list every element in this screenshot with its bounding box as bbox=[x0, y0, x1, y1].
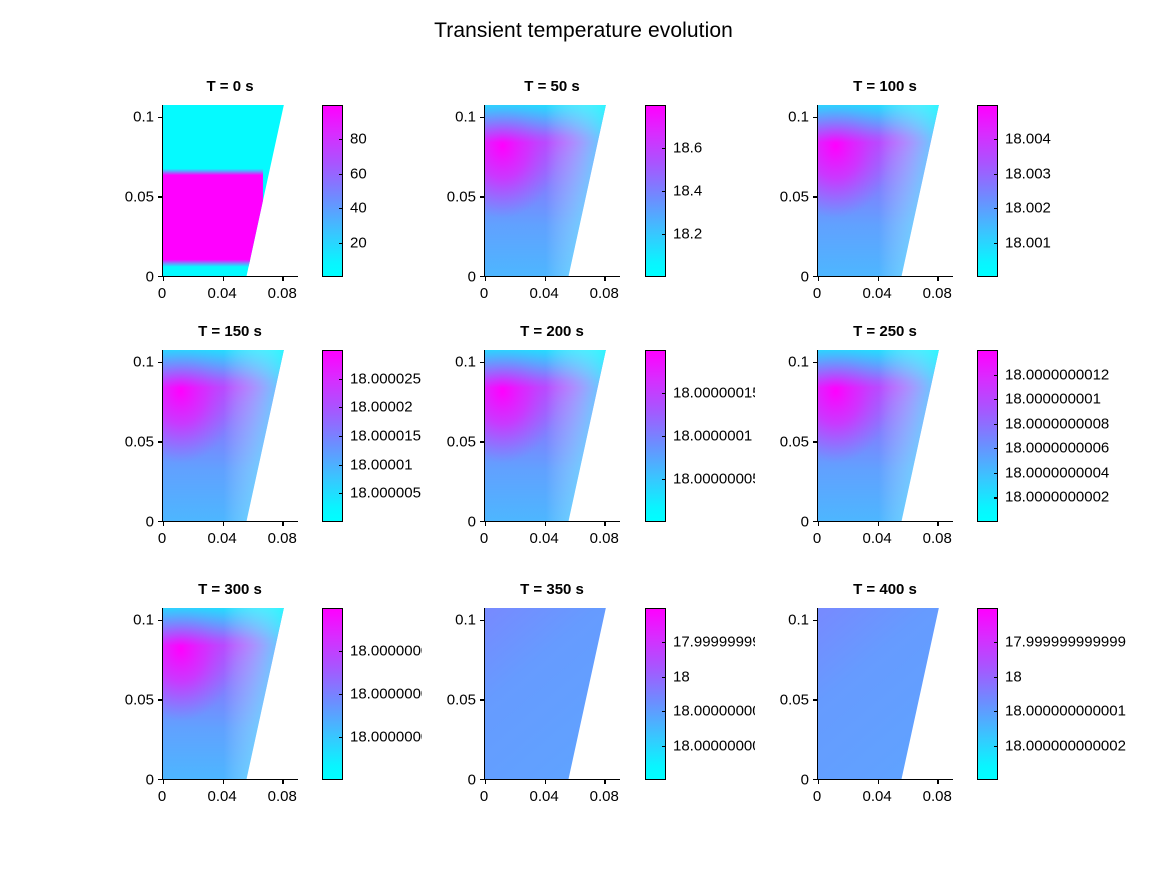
y-tick-label: 0 bbox=[751, 772, 809, 789]
x-tick bbox=[937, 779, 938, 784]
x-tick-label: 0.04 bbox=[863, 788, 892, 805]
colorbar-tick bbox=[994, 677, 998, 678]
colorbar-tick-label: 18 bbox=[1005, 668, 1022, 685]
x-tick-label: 0 bbox=[813, 788, 821, 805]
y-tick-label: 0.1 bbox=[751, 612, 809, 629]
x-tick-label: 0.08 bbox=[923, 788, 952, 805]
colorbar-400s bbox=[977, 608, 998, 780]
colorbar-tick bbox=[994, 746, 998, 747]
subplot-400s: T = 400 s00.040.0800.050.118.00000000000… bbox=[0, 0, 1167, 875]
y-tick bbox=[813, 779, 818, 780]
axes-400s bbox=[817, 608, 953, 780]
colorbar-tick bbox=[994, 711, 998, 712]
colorbar-tick bbox=[994, 642, 998, 643]
x-tick bbox=[878, 779, 879, 784]
colorbar-tick-label: 18.000000000001 bbox=[1005, 703, 1126, 720]
figure-canvas: Transient temperature evolution T = 0 s0… bbox=[0, 0, 1167, 875]
colorbar-tick-label: 17.999999999999 bbox=[1005, 634, 1126, 651]
field-region bbox=[818, 608, 953, 779]
y-tick bbox=[813, 699, 818, 700]
y-tick bbox=[813, 620, 818, 621]
subplot-title: T = 400 s bbox=[783, 581, 987, 598]
y-tick-label: 0.05 bbox=[751, 692, 809, 709]
x-tick bbox=[818, 779, 819, 784]
colorbar-tick-label: 18.000000000002 bbox=[1005, 737, 1126, 754]
temperature-field bbox=[818, 608, 953, 779]
